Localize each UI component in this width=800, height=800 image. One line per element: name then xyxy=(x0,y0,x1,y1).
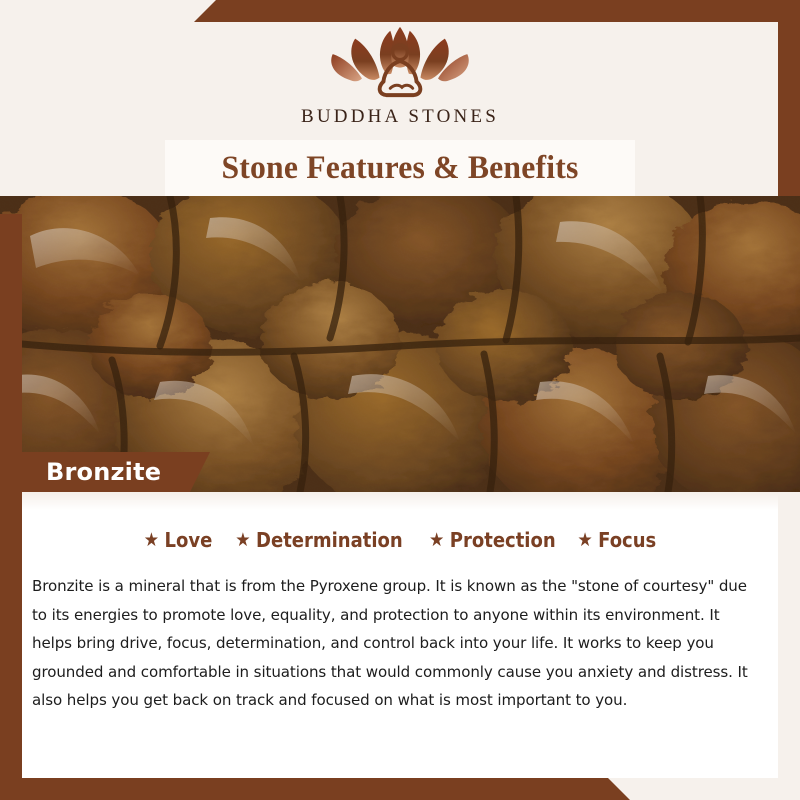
frame-left-border xyxy=(0,214,22,780)
lotus-meditation-icon xyxy=(315,22,485,100)
content-card: ★ Love ★ Determination ★ Protection ★ Fo… xyxy=(22,492,778,778)
frame-right-border xyxy=(778,0,800,196)
benefit-item: ★ Focus xyxy=(577,528,656,552)
benefit-label: Protection xyxy=(450,528,556,552)
benefit-label: Focus xyxy=(598,528,656,552)
frame-bottom-border xyxy=(0,778,800,800)
star-icon: ★ xyxy=(577,531,592,550)
stone-photo xyxy=(0,196,800,492)
star-icon: ★ xyxy=(429,531,444,550)
benefits-list: ★ Love ★ Determination ★ Protection ★ Fo… xyxy=(22,528,778,552)
benefit-item: ★ Protection xyxy=(429,528,556,552)
benefit-item: ★ Determination xyxy=(235,528,402,552)
benefit-label: Determination xyxy=(256,528,403,552)
star-icon: ★ xyxy=(144,531,159,550)
section-title-banner: Stone Features & Benefits xyxy=(165,140,635,196)
star-icon: ★ xyxy=(235,531,250,550)
stone-name-tag: Bronzite xyxy=(0,452,210,492)
brand-name: BUDDHA STONES xyxy=(301,106,499,128)
infographic-page: BUDDHA STONES xyxy=(0,0,800,800)
page-title: Stone Features & Benefits xyxy=(221,150,578,187)
benefit-item: ★ Love xyxy=(144,528,213,552)
brand-logo: BUDDHA STONES xyxy=(0,22,800,128)
stone-name-label: Bronzite xyxy=(0,458,161,486)
card-top-fade xyxy=(22,492,778,510)
stone-description: Bronzite is a mineral that is from the P… xyxy=(32,572,753,715)
benefit-label: Love xyxy=(164,528,212,552)
